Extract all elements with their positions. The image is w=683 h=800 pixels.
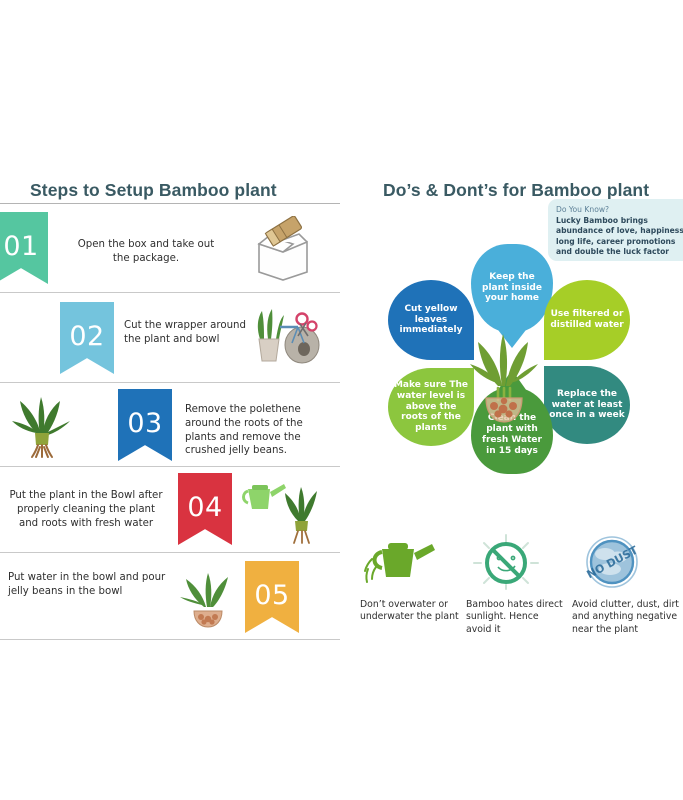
step-row: 04 Put the plant in the Bowl after prope…	[0, 466, 340, 552]
petal-label: Replace the water at least once in a wee…	[544, 389, 630, 422]
dont-caption: Avoid clutter, dust, dirt and anything n…	[572, 599, 683, 636]
step-description: Remove the polethene around the roots of…	[185, 403, 317, 458]
step-description: Put water in the bowl and pour jelly bea…	[8, 571, 173, 599]
step-row: 05 Put water in the bowl and pour jelly …	[0, 552, 340, 640]
no-dust-stamp-icon: NO DUST	[572, 533, 683, 595]
no-sunlight-icon	[466, 533, 566, 595]
step-description: Open the box and take out the package.	[76, 238, 216, 266]
petal-keep-plant-inside: Keep the plant inside your home	[471, 244, 553, 332]
petal-label: Make sure The water level is above the r…	[388, 380, 474, 435]
dont-item: NO DUST Avoid clutter, dust, dirt and an…	[572, 533, 683, 636]
petal-label: Keep the plant inside your home	[471, 272, 553, 305]
dont-caption: Don’t overwater or underwater the plant	[360, 599, 460, 624]
petal-use-filtered-water: Use filtered or distilled water	[544, 280, 630, 360]
petal-replace-water-weekly: Replace the water at least once in a wee…	[544, 366, 630, 444]
dont-caption: Bamboo hates direct sunlight. Hence avoi…	[466, 599, 566, 636]
step-number-badge-02: 02	[60, 302, 114, 374]
petal-label: Cut yellow leaves immediately	[388, 304, 474, 337]
dont-item: Bamboo hates direct sunlight. Hence avoi…	[466, 533, 566, 636]
step-row: 01 Open the box and take out the package…	[0, 203, 340, 292]
petal-water-level-above-roots: Make sure The water level is above the r…	[388, 368, 474, 446]
wrapped-plant-and-bowl-icon	[246, 303, 322, 378]
box-with-package-icon	[247, 216, 319, 287]
step-number-label: 01	[3, 233, 38, 260]
step-number-badge-04: 04	[178, 473, 232, 545]
step-number-badge-01: 01	[0, 212, 48, 284]
step-number-label: 03	[127, 410, 162, 437]
step-number-label: 02	[69, 323, 104, 350]
bamboo-plant-in-glass-bowl-icon	[468, 330, 540, 426]
dont-item: Don’t overwater or underwater the plant	[360, 533, 460, 624]
petal-cut-yellow-leaves: Cut yellow leaves immediately	[388, 280, 474, 360]
watering-can-and-plant-icon	[240, 475, 322, 552]
step-number-label: 05	[254, 582, 289, 609]
bamboo-plant	[285, 487, 317, 543]
step-number-badge-05: 05	[245, 561, 299, 633]
step-description: Put the plant in the Bowl after properly…	[6, 489, 166, 530]
page-title-dos-donts: Do’s & Dont’s for Bamboo plant	[383, 180, 649, 201]
infographic-canvas: Steps to Setup Bamboo plant Do’s & Dont’…	[0, 0, 683, 800]
step-number-label: 04	[187, 494, 222, 521]
step-row: 03 Remove the polethene around the roots…	[0, 382, 340, 466]
step-row: 02 Cut the wrapper around the plant and …	[0, 292, 340, 382]
petal-label: Use filtered or distilled water	[544, 309, 630, 331]
watering-can	[244, 484, 287, 509]
bamboo-plant-bare-roots-icon	[8, 391, 74, 464]
steps-list: 01 Open the box and take out the package…	[0, 203, 340, 640]
step-number-badge-03: 03	[118, 389, 172, 461]
page-title-steps: Steps to Setup Bamboo plant	[30, 180, 277, 201]
step-description: Cut the wrapper around the plant and bow…	[124, 319, 246, 347]
watering-can-icon	[360, 533, 460, 595]
bamboo-plant-in-bowl-icon	[176, 571, 240, 636]
did-you-know-heading: Do You Know?	[556, 205, 683, 214]
